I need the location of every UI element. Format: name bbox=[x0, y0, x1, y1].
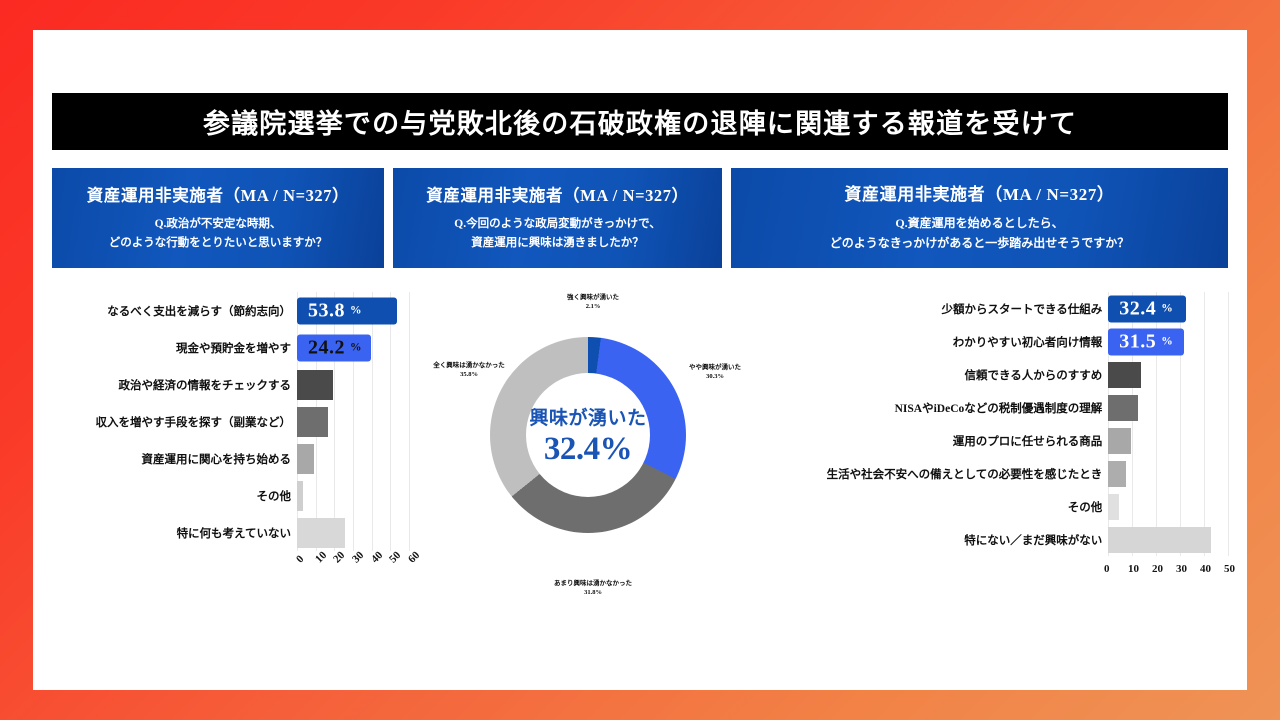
gridline bbox=[1180, 391, 1181, 424]
bar-category-label: 政治や経済の情報をチェックする bbox=[89, 377, 291, 393]
gridline bbox=[1156, 391, 1157, 424]
gridline bbox=[1204, 391, 1205, 424]
bar-rows: なるべく支出を減らす（節約志向）53.8%現金や預貯金を増やす24.2%政治や経… bbox=[89, 292, 419, 551]
gridline bbox=[1156, 490, 1157, 523]
gridlines bbox=[1108, 457, 1228, 490]
bar-category-label: NISAやiDeCoなどの税制優遇制度の理解 bbox=[748, 400, 1102, 416]
gridline bbox=[1228, 292, 1229, 325]
gridlines bbox=[1108, 490, 1228, 523]
bar-category-label: 特に何も考えていない bbox=[89, 525, 291, 541]
bar-category-label: なるべく支出を減らす（節約志向） bbox=[89, 303, 291, 319]
gridline bbox=[1132, 490, 1133, 523]
x-axis-tick: 30 bbox=[350, 549, 366, 565]
x-axis-tick: 40 bbox=[1200, 563, 1211, 575]
donut-segment-label: 強く興味が湧いた2.1% bbox=[548, 294, 638, 312]
bar-category-label: 収入を増やす手段を探す（副業など） bbox=[89, 414, 291, 430]
x-axis-tick: 20 bbox=[331, 549, 347, 565]
gridline bbox=[390, 440, 391, 477]
bar-value-percent-sign: % bbox=[350, 305, 362, 317]
question-header-2-line2: 資産運用に興味は湧きましたか？ bbox=[471, 234, 644, 253]
gridline bbox=[1132, 457, 1133, 490]
donut-segment-name: あまり興味は湧かなかった bbox=[537, 580, 649, 589]
bar-category-label: 運用のプロに任せられる商品 bbox=[748, 433, 1102, 449]
gridline bbox=[390, 329, 391, 366]
question-header-row: 資産運用非実施者（MA / N=327） Q.政治が不安定な時期、 どのような行… bbox=[52, 168, 1228, 268]
bar-value-number: 53.8 bbox=[308, 299, 345, 322]
donut-center-value: 32.4% bbox=[544, 431, 632, 468]
bar-plot-area bbox=[297, 477, 409, 514]
gridline bbox=[316, 440, 317, 477]
question-header-1: 資産運用非実施者（MA / N=327） Q.政治が不安定な時期、 どのような行… bbox=[52, 168, 384, 268]
question-header-2-line1: Q.今回のような政局変動がきっかけで、 bbox=[454, 215, 660, 234]
gridline bbox=[353, 514, 354, 551]
bar-row: 資産運用に関心を持ち始める bbox=[89, 440, 419, 477]
bar-value-badge: 31.5% bbox=[1108, 328, 1183, 355]
donut-center: 興味が湧いた 32.4% bbox=[526, 373, 650, 497]
page-title: 参議院選挙での与党敗北後の石破政権の退陣に関連する報道を受けて bbox=[203, 102, 1077, 141]
x-axis-tick: 50 bbox=[387, 549, 403, 565]
gridline bbox=[409, 292, 410, 329]
question-header-2: 資産運用非実施者（MA / N=327） Q.今回のような政局変動がきっかけで、… bbox=[393, 168, 722, 268]
gridline bbox=[409, 366, 410, 403]
donut-center-label: 興味が湧いた bbox=[529, 403, 646, 430]
gridline bbox=[372, 514, 373, 551]
bar-value-number: 24.2 bbox=[308, 336, 345, 359]
bar-category-label: 少額からスタートできる仕組み bbox=[748, 301, 1102, 317]
bar bbox=[1108, 494, 1119, 520]
bar bbox=[297, 407, 328, 437]
bar-rows: 少額からスタートできる仕組み32.4%わかりやすい初心者向け情報31.5%信頼で… bbox=[748, 292, 1228, 556]
bar-plot-area bbox=[1108, 358, 1228, 391]
question-header-1-line2: どのような行動をとりたいと思いますか？ bbox=[109, 234, 328, 253]
gridline bbox=[1228, 523, 1229, 556]
gridline bbox=[1132, 424, 1133, 457]
bar-plot-area bbox=[297, 403, 409, 440]
bar-row: 少額からスタートできる仕組み32.4% bbox=[748, 292, 1228, 325]
question-header-3-line2: どのようなきっかけがあると一歩踏み出せそうですか？ bbox=[830, 234, 1130, 254]
bar bbox=[297, 444, 314, 474]
bar-value-percent-sign: % bbox=[1161, 336, 1173, 348]
gridline bbox=[353, 366, 354, 403]
x-axis: 0102030405060 bbox=[297, 555, 409, 585]
question-header-3: 資産運用非実施者（MA / N=327） Q.資産運用を始めるとしたら、 どのよ… bbox=[731, 168, 1228, 268]
bar-plot-area bbox=[1108, 523, 1228, 556]
bar-plot-area: 31.5% bbox=[1108, 325, 1228, 358]
donut-segment-label: あまり興味は湧かなかった31.8% bbox=[537, 580, 649, 598]
bar-plot-area bbox=[1108, 424, 1228, 457]
gridline bbox=[1180, 424, 1181, 457]
gridline bbox=[1156, 424, 1157, 457]
x-axis-tick: 10 bbox=[313, 549, 329, 565]
gridline bbox=[1204, 490, 1205, 523]
bar-value-badge: 32.4% bbox=[1108, 295, 1186, 322]
bar-row: NISAやiDeCoなどの税制優遇制度の理解 bbox=[748, 391, 1228, 424]
gridline bbox=[353, 440, 354, 477]
donut-segment-value: 31.8% bbox=[537, 589, 649, 598]
right-bar-chart: 少額からスタートできる仕組み32.4%わかりやすい初心者向け情報31.5%信頼で… bbox=[748, 292, 1228, 556]
bar-value-badge: 24.2% bbox=[297, 334, 371, 361]
bar-plot-area bbox=[1108, 490, 1228, 523]
bar bbox=[1108, 428, 1131, 454]
x-axis: 01020304050 bbox=[1109, 560, 1229, 590]
donut-segment-value: 30.3% bbox=[675, 373, 755, 382]
gridline bbox=[1204, 292, 1205, 325]
bar-category-label: その他 bbox=[89, 488, 291, 504]
gridline bbox=[334, 477, 335, 514]
question-header-1-line1: Q.政治が不安定な時期、 bbox=[155, 215, 282, 234]
bar-category-label: その他 bbox=[748, 499, 1102, 515]
bar bbox=[1108, 461, 1126, 487]
gridline bbox=[1180, 490, 1181, 523]
x-axis-tick: 0 bbox=[1104, 563, 1110, 575]
gridline bbox=[1204, 325, 1205, 358]
gridline bbox=[334, 366, 335, 403]
bar-plot-area: 32.4% bbox=[1108, 292, 1228, 325]
gridline bbox=[334, 440, 335, 477]
slide-card: 参議院選挙での与党敗北後の石破政権の退陣に関連する報道を受けて 資産運用非実施者… bbox=[33, 30, 1247, 690]
donut-segment-name: やや興味が湧いた bbox=[675, 364, 755, 373]
question-header-3-line1: Q.資産運用を始めるとしたら、 bbox=[895, 214, 1063, 234]
donut-segment-label: 全く興味は湧かなかった35.8% bbox=[421, 362, 517, 380]
gridline bbox=[372, 440, 373, 477]
gridline bbox=[1204, 457, 1205, 490]
bar-row: なるべく支出を減らす（節約志向）53.8% bbox=[89, 292, 419, 329]
question-header-3-title: 資産運用非実施者（MA / N=327） bbox=[844, 180, 1114, 205]
bar-row: わかりやすい初心者向け情報31.5% bbox=[748, 325, 1228, 358]
gridline bbox=[372, 477, 373, 514]
bar bbox=[297, 481, 303, 511]
donut-ring: 興味が湧いた 32.4% bbox=[490, 337, 686, 533]
bar-plot-area bbox=[1108, 391, 1228, 424]
gridline bbox=[1204, 358, 1205, 391]
gridline bbox=[409, 514, 410, 551]
gridline bbox=[1228, 325, 1229, 358]
bar-row: 収入を増やす手段を探す（副業など） bbox=[89, 403, 419, 440]
donut-segment-value: 35.8% bbox=[421, 371, 517, 380]
gridline bbox=[372, 366, 373, 403]
bar-row: 運用のプロに任せられる商品 bbox=[748, 424, 1228, 457]
x-axis-tick: 60 bbox=[406, 549, 422, 565]
donut-segment-label: やや興味が湧いた30.3% bbox=[675, 364, 755, 382]
bar-plot-area bbox=[1108, 457, 1228, 490]
bar bbox=[1108, 395, 1138, 421]
bar-value-percent-sign: % bbox=[1161, 303, 1173, 315]
gridline bbox=[372, 329, 373, 366]
gridline bbox=[1180, 358, 1181, 391]
gridline bbox=[409, 329, 410, 366]
left-bar-chart: なるべく支出を減らす（節約志向）53.8%現金や預貯金を増やす24.2%政治や経… bbox=[89, 292, 419, 551]
bar-category-label: 特にない／まだ興味がない bbox=[748, 532, 1102, 548]
gridline bbox=[372, 403, 373, 440]
donut-segment-name: 全く興味は湧かなかった bbox=[421, 362, 517, 371]
x-axis-tick: 20 bbox=[1152, 563, 1163, 575]
bar-row: 信頼できる人からのすすめ bbox=[748, 358, 1228, 391]
gridline bbox=[409, 440, 410, 477]
bar-plot-area bbox=[297, 514, 409, 551]
bar-category-label: 資産運用に関心を持ち始める bbox=[89, 451, 291, 467]
gridline bbox=[1156, 358, 1157, 391]
gridline bbox=[1228, 424, 1229, 457]
bar-value-badge: 53.8% bbox=[297, 297, 397, 324]
x-axis-tick: 0 bbox=[294, 553, 306, 565]
bar-row: 特にない／まだ興味がない bbox=[748, 523, 1228, 556]
donut-segment-value: 2.1% bbox=[548, 303, 638, 312]
donut-segment-name: 強く興味が湧いた bbox=[548, 294, 638, 303]
gridline bbox=[409, 477, 410, 514]
gridline bbox=[1180, 457, 1181, 490]
bar-value-number: 32.4 bbox=[1119, 297, 1156, 320]
gridline bbox=[353, 477, 354, 514]
gridline bbox=[390, 403, 391, 440]
gridline bbox=[1228, 457, 1229, 490]
bar-row: その他 bbox=[89, 477, 419, 514]
gridlines bbox=[297, 440, 409, 477]
bar-row: 政治や経済の情報をチェックする bbox=[89, 366, 419, 403]
bar bbox=[1108, 362, 1140, 388]
gridlines bbox=[297, 477, 409, 514]
x-axis-tick: 10 bbox=[1128, 563, 1139, 575]
gridline bbox=[390, 514, 391, 551]
gridline bbox=[353, 403, 354, 440]
footer-source-text: 2025年8月 GOファンド発表「政治動向×資産運用に関する意識調査」 bbox=[784, 659, 1211, 679]
bar-plot-area bbox=[297, 440, 409, 477]
bar bbox=[297, 518, 345, 548]
bar-value-percent-sign: % bbox=[350, 342, 362, 354]
gridline bbox=[1228, 490, 1229, 523]
gridline bbox=[334, 403, 335, 440]
bar-category-label: 信頼できる人からのすすめ bbox=[748, 367, 1102, 383]
bar bbox=[297, 370, 333, 400]
gridline bbox=[1228, 358, 1229, 391]
charts-region: なるべく支出を減らす（節約志向）53.8%現金や預貯金を増やす24.2%政治や経… bbox=[33, 292, 1247, 632]
gridline bbox=[390, 366, 391, 403]
center-donut-chart: 興味が湧いた 32.4% 強く興味が湧いた2.1%やや興味が湧いた30.3%あま… bbox=[437, 292, 737, 602]
bar-category-label: 生活や社会不安への備えとしての必要性を感じたとき bbox=[748, 466, 1102, 482]
question-header-2-title: 資産運用非実施者（MA / N=327） bbox=[426, 182, 688, 206]
bar-category-label: わかりやすい初心者向け情報 bbox=[748, 334, 1102, 350]
bar-row: 現金や預貯金を増やす24.2% bbox=[89, 329, 419, 366]
bar-row: 特に何も考えていない bbox=[89, 514, 419, 551]
x-axis-tick: 30 bbox=[1176, 563, 1187, 575]
x-axis-tick: 40 bbox=[369, 549, 385, 565]
gridline bbox=[1156, 457, 1157, 490]
bar-row: 生活や社会不安への備えとしての必要性を感じたとき bbox=[748, 457, 1228, 490]
bar-plot-area: 53.8% bbox=[297, 292, 409, 329]
gridline bbox=[390, 477, 391, 514]
question-header-1-title: 資産運用非実施者（MA / N=327） bbox=[87, 182, 349, 206]
gridline bbox=[1204, 424, 1205, 457]
title-bar: 参議院選挙での与党敗北後の石破政権の退陣に関連する報道を受けて bbox=[52, 93, 1228, 150]
gridline bbox=[1228, 391, 1229, 424]
bar-value-number: 31.5 bbox=[1119, 330, 1156, 353]
gridline bbox=[316, 477, 317, 514]
bar-row: その他 bbox=[748, 490, 1228, 523]
bar-plot-area: 24.2% bbox=[297, 329, 409, 366]
bar-plot-area bbox=[297, 366, 409, 403]
bar bbox=[1108, 527, 1211, 553]
gridline bbox=[409, 403, 410, 440]
x-axis-tick: 50 bbox=[1224, 563, 1235, 575]
bar-category-label: 現金や預貯金を増やす bbox=[89, 340, 291, 356]
